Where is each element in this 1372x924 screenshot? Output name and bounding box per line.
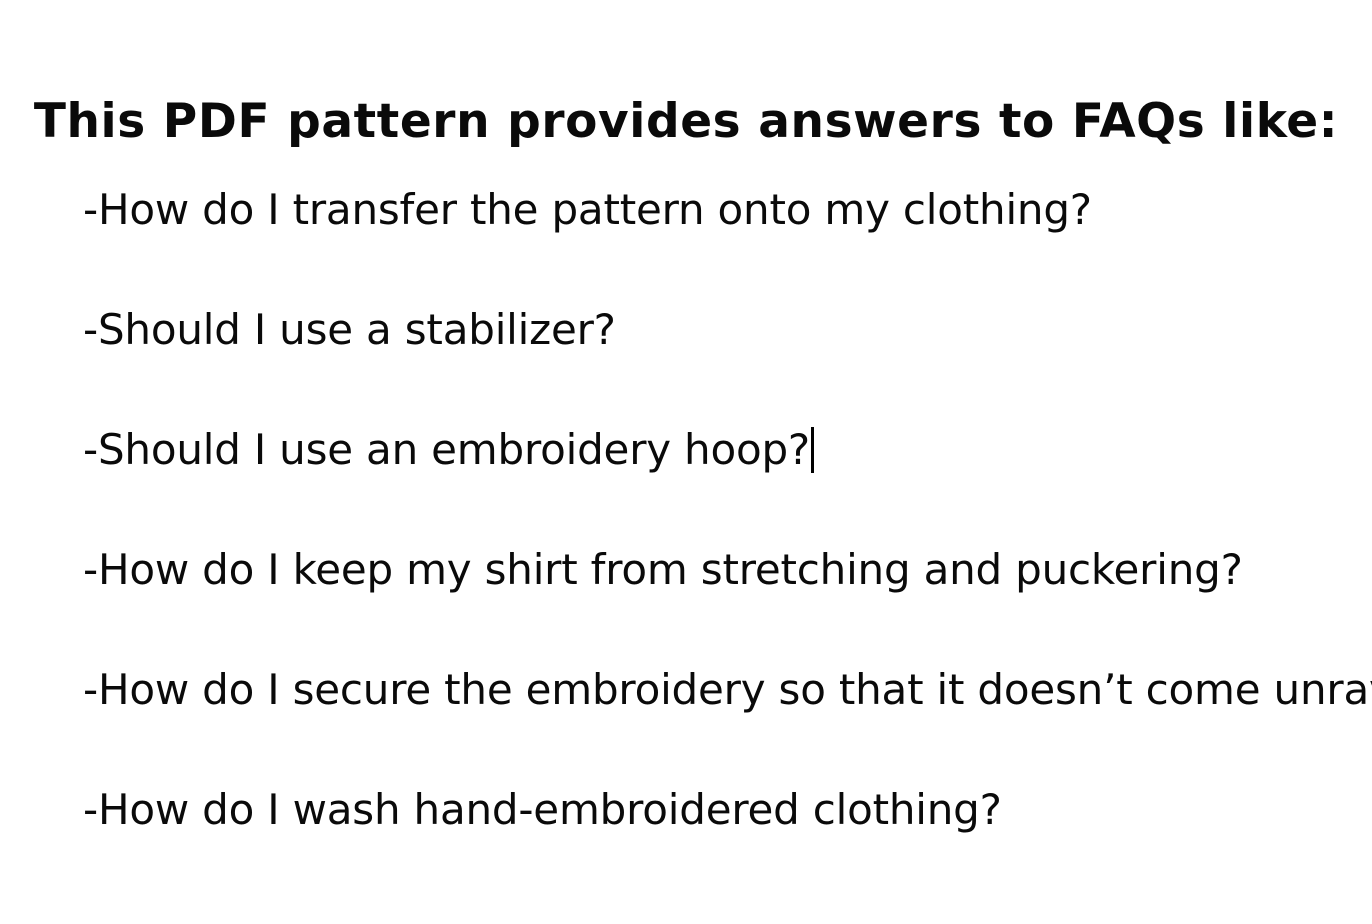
list-item[interactable]: -How do I wash hand-embroidered clothing… [83, 784, 1333, 904]
list-item[interactable]: -Should I use a stabilizer? [83, 304, 1333, 424]
faq-question-text: -How do I keep my shirt from stretching … [83, 545, 1243, 594]
page-title: This PDF pattern provides answers to FAQ… [0, 93, 1372, 151]
faq-question-text: -How do I secure the embroidery so that … [83, 665, 1372, 714]
list-item[interactable]: -How do I transfer the pattern onto my c… [83, 184, 1333, 304]
slide-canvas: This PDF pattern provides answers to FAQ… [0, 0, 1372, 924]
list-item[interactable]: -How do I keep my shirt from stretching … [83, 544, 1333, 664]
faq-question-text: -How do I wash hand-embroidered clothing… [83, 785, 1002, 834]
list-item[interactable]: -How do I secure the embroidery so that … [83, 664, 1333, 784]
list-item[interactable]: -Should I use an embroidery hoop? [83, 424, 1333, 544]
faq-question-text: -How do I transfer the pattern onto my c… [83, 185, 1092, 234]
faq-question-text: -Should I use an embroidery hoop? [83, 425, 810, 474]
faq-question-text: -Should I use a stabilizer? [83, 305, 616, 354]
faq-question-list: -How do I transfer the pattern onto my c… [83, 184, 1333, 904]
text-cursor-caret[interactable] [811, 427, 814, 473]
